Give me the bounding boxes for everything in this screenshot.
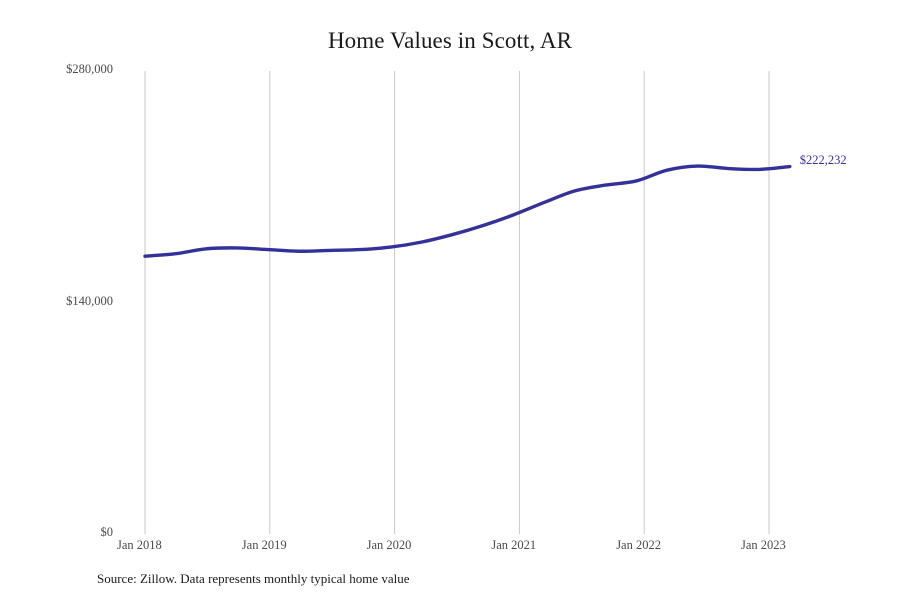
source-note: Source: Zillow. Data represents monthly … — [97, 571, 410, 587]
x-axis-tick-label-jan-2023: Jan 2023 — [741, 538, 786, 553]
x-axis-tick-label-jan-2020: Jan 2020 — [367, 538, 412, 553]
y-axis-tick-label-280000: $280,000 — [0, 62, 113, 77]
x-axis-tick-label-jan-2021: Jan 2021 — [491, 538, 536, 553]
chart-container: Home Values in Scott, AR $280,000 $140,0… — [0, 0, 900, 600]
x-axis-tick-label-jan-2019: Jan 2019 — [242, 538, 287, 553]
y-axis-tick-label-140000: $140,000 — [0, 294, 113, 309]
end-value-annotation: $222,232 — [800, 153, 847, 168]
x-axis-tick-label-jan-2022: Jan 2022 — [616, 538, 661, 553]
x-axis-tick-label-jan-2018: Jan 2018 — [117, 538, 162, 553]
gridlines-group — [145, 71, 769, 534]
y-axis-tick-label-0: $0 — [0, 525, 113, 540]
chart-plot-area — [0, 0, 900, 600]
series-line-typical-home-value — [145, 166, 790, 256]
